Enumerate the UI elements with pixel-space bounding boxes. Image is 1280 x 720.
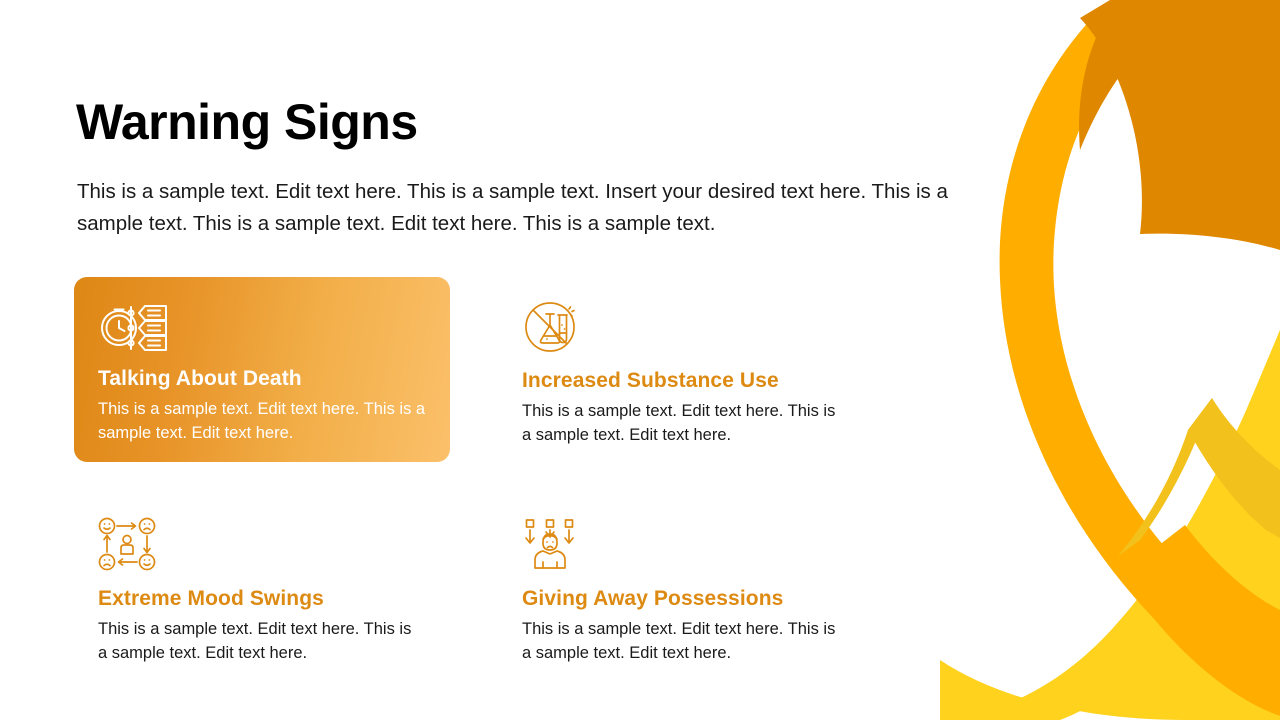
mood-swing-faces-icon [98, 517, 424, 575]
warning-signs-grid: Talking About Death This is a sample tex… [74, 277, 884, 680]
card-body: This is a sample text. Edit text here. T… [98, 618, 424, 666]
no-substance-flask-icon [522, 299, 848, 357]
card-body: This is a sample text. Edit text here. T… [98, 398, 428, 446]
page-title: Warning Signs [76, 95, 418, 150]
slide-canvas: Warning Signs This is a sample text. Edi… [0, 0, 1280, 720]
ribbon-overlap-shadow [1188, 398, 1280, 538]
card-body: This is a sample text. Edit text here. T… [522, 400, 848, 448]
card-increased-substance-use[interactable]: Increased Substance Use This is a sample… [498, 277, 874, 462]
card-talking-about-death[interactable]: Talking About Death This is a sample tex… [74, 277, 450, 462]
intro-paragraph: This is a sample text. Edit text here. T… [77, 176, 967, 240]
card-title: Giving Away Possessions [522, 587, 848, 611]
awareness-ribbon-graphic [940, 0, 1280, 720]
card-giving-away-possessions[interactable]: Giving Away Possessions This is a sample… [498, 495, 874, 680]
person-down-arrows-icon [522, 517, 848, 575]
stopwatch-timeline-icon [98, 299, 424, 357]
card-extreme-mood-swings[interactable]: Extreme Mood Swings This is a sample tex… [74, 495, 450, 680]
card-title: Talking About Death [98, 367, 424, 391]
ribbon-yellow-tail [940, 330, 1280, 720]
card-body: This is a sample text. Edit text here. T… [522, 618, 848, 666]
card-title: Extreme Mood Swings [98, 587, 424, 611]
ribbon-fold-dark [1080, 0, 1280, 250]
card-title: Increased Substance Use [522, 369, 848, 393]
ribbon-orange-band [1000, 0, 1280, 714]
